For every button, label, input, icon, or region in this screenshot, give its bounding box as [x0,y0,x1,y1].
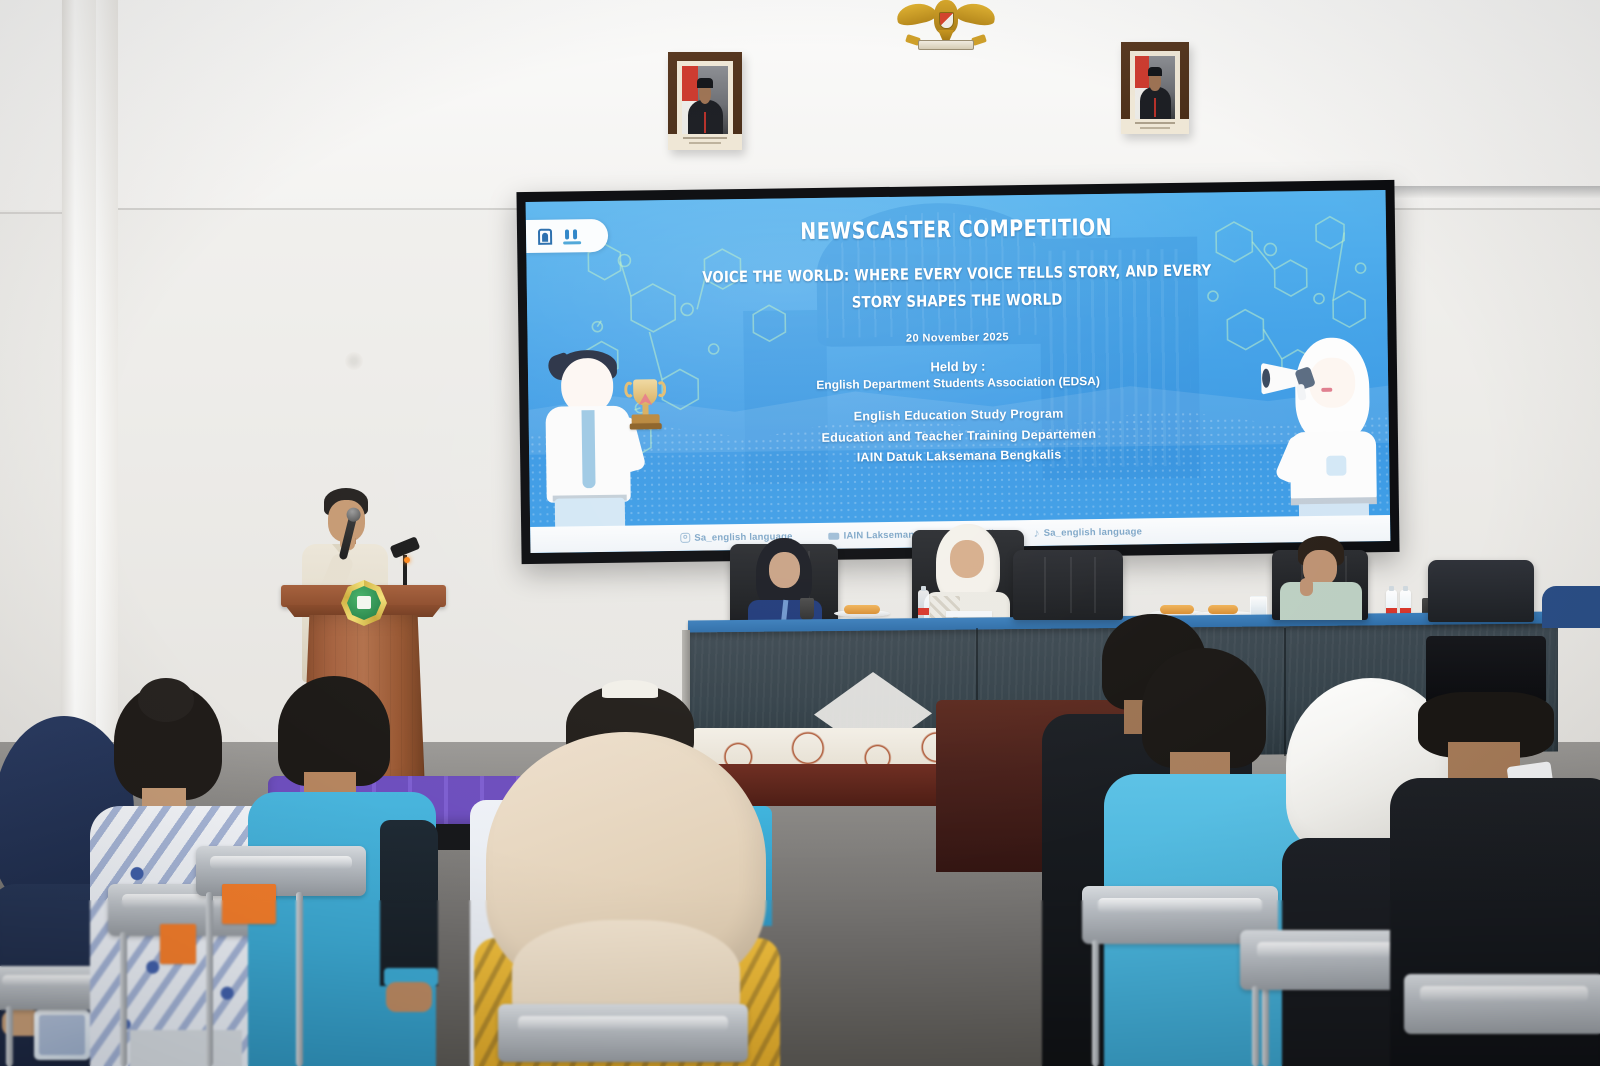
megaphone-mouth [1262,369,1270,388]
hair [278,676,390,786]
panelist-shirt [1280,582,1362,620]
trousers [130,1030,242,1066]
chair-leg [296,892,303,1066]
megaphone-icon [1261,358,1324,405]
panelist-right [1272,536,1370,620]
chair-seat-tag [160,924,196,964]
chair-leg [120,932,127,1066]
portrait-mat [1130,51,1180,125]
hair [1142,648,1266,768]
social-tiktok: ♪ Sa_english language [1033,525,1142,539]
wall-vent [345,352,363,370]
led-presentation-screen: NEWSCASTER COMPETITION VOICE THE WORLD: … [516,180,1399,564]
tiktok-icon: ♪ [1033,527,1039,539]
wall-pilaster [62,0,96,745]
caption-line [1135,122,1176,124]
presentation-slide: NEWSCASTER COMPETITION VOICE THE WORLD: … [526,190,1391,553]
caption-line [683,137,727,139]
garuda-pancasila-emblem [898,0,994,56]
empty-chair-center [1013,550,1123,620]
wall-upper-band [0,0,1600,210]
portrait-photo [682,66,728,136]
slide-character-boy-with-trophy [531,339,652,551]
portrait-mat [677,61,733,141]
garuda-wing-right [953,0,999,27]
chair-leg [6,1006,13,1066]
microphone-status-led [404,557,410,563]
caption-line-secondary [689,142,722,144]
garuda-wing-left [893,0,939,27]
event-photograph: NEWSCASTER COMPETITION VOICE THE WORLD: … [0,0,1600,1066]
portrait-caption-plate [1121,119,1189,134]
character-necktie [581,410,595,488]
portrait-tie [704,112,707,133]
trophy-handle-right [656,381,666,397]
trophy-plinth [630,423,662,429]
trophy-icon [623,379,668,432]
folding-chair [498,1004,748,1062]
chair-leg [1252,986,1259,1066]
screen-display-area: NEWSCASTER COMPETITION VOICE THE WORLD: … [526,190,1391,553]
water-bottle [918,590,929,620]
seal-book-motif [357,596,371,609]
president-portrait [668,52,742,150]
snack-food [1160,605,1194,614]
portrait-caption-plate [668,134,742,150]
slide-character-girl-with-megaphone [1258,331,1385,541]
garuda-shield [939,12,954,29]
iain-logo-icon [535,226,555,246]
chair-leg [1092,940,1099,1066]
slide-logo-tab [526,219,608,253]
songkok-cap-icon [697,78,713,88]
ceiling-edge [1380,186,1600,198]
snack-food [1208,605,1238,614]
arm [386,982,432,1012]
person-far-right-edge [1542,586,1600,628]
papers [946,611,992,617]
wall-pilaster-secondary [96,0,118,745]
edsa-logo-icon [562,226,582,246]
snack-food [844,605,880,614]
chair-seat-tag [222,884,276,924]
panelist-hand [1300,578,1313,596]
slide-event-date: 20 November 2025 [639,328,1275,349]
portrait-tie [1154,98,1156,117]
slide-text-block: NEWSCASTER COMPETITION VOICE THE WORLD: … [638,213,1278,471]
tiktok-handle: Sa_english language [1044,526,1142,538]
panelist-left [730,538,840,630]
panelist-face [769,552,800,588]
character-badge [1326,456,1346,476]
panelist-face [950,540,984,578]
chair-leg [206,892,213,1066]
hair-bun [138,678,194,722]
caption-line-secondary [1140,127,1170,129]
dark-sleeve [380,820,438,986]
folding-chair [1404,974,1600,1034]
slide-institution: English Education Study Program Educatio… [640,401,1277,471]
vice-president-portrait [1121,42,1189,134]
inner-cap [602,680,658,698]
coffee-cup [800,598,814,620]
portrait-photo [1135,56,1175,120]
institution-seal-icon [341,580,387,626]
instagram-icon [680,533,690,543]
held-phone [34,1010,90,1060]
songkok-cap-icon [1148,67,1162,76]
empty-chair-right [1428,560,1534,622]
garuda-motto-ribbon [918,40,974,50]
